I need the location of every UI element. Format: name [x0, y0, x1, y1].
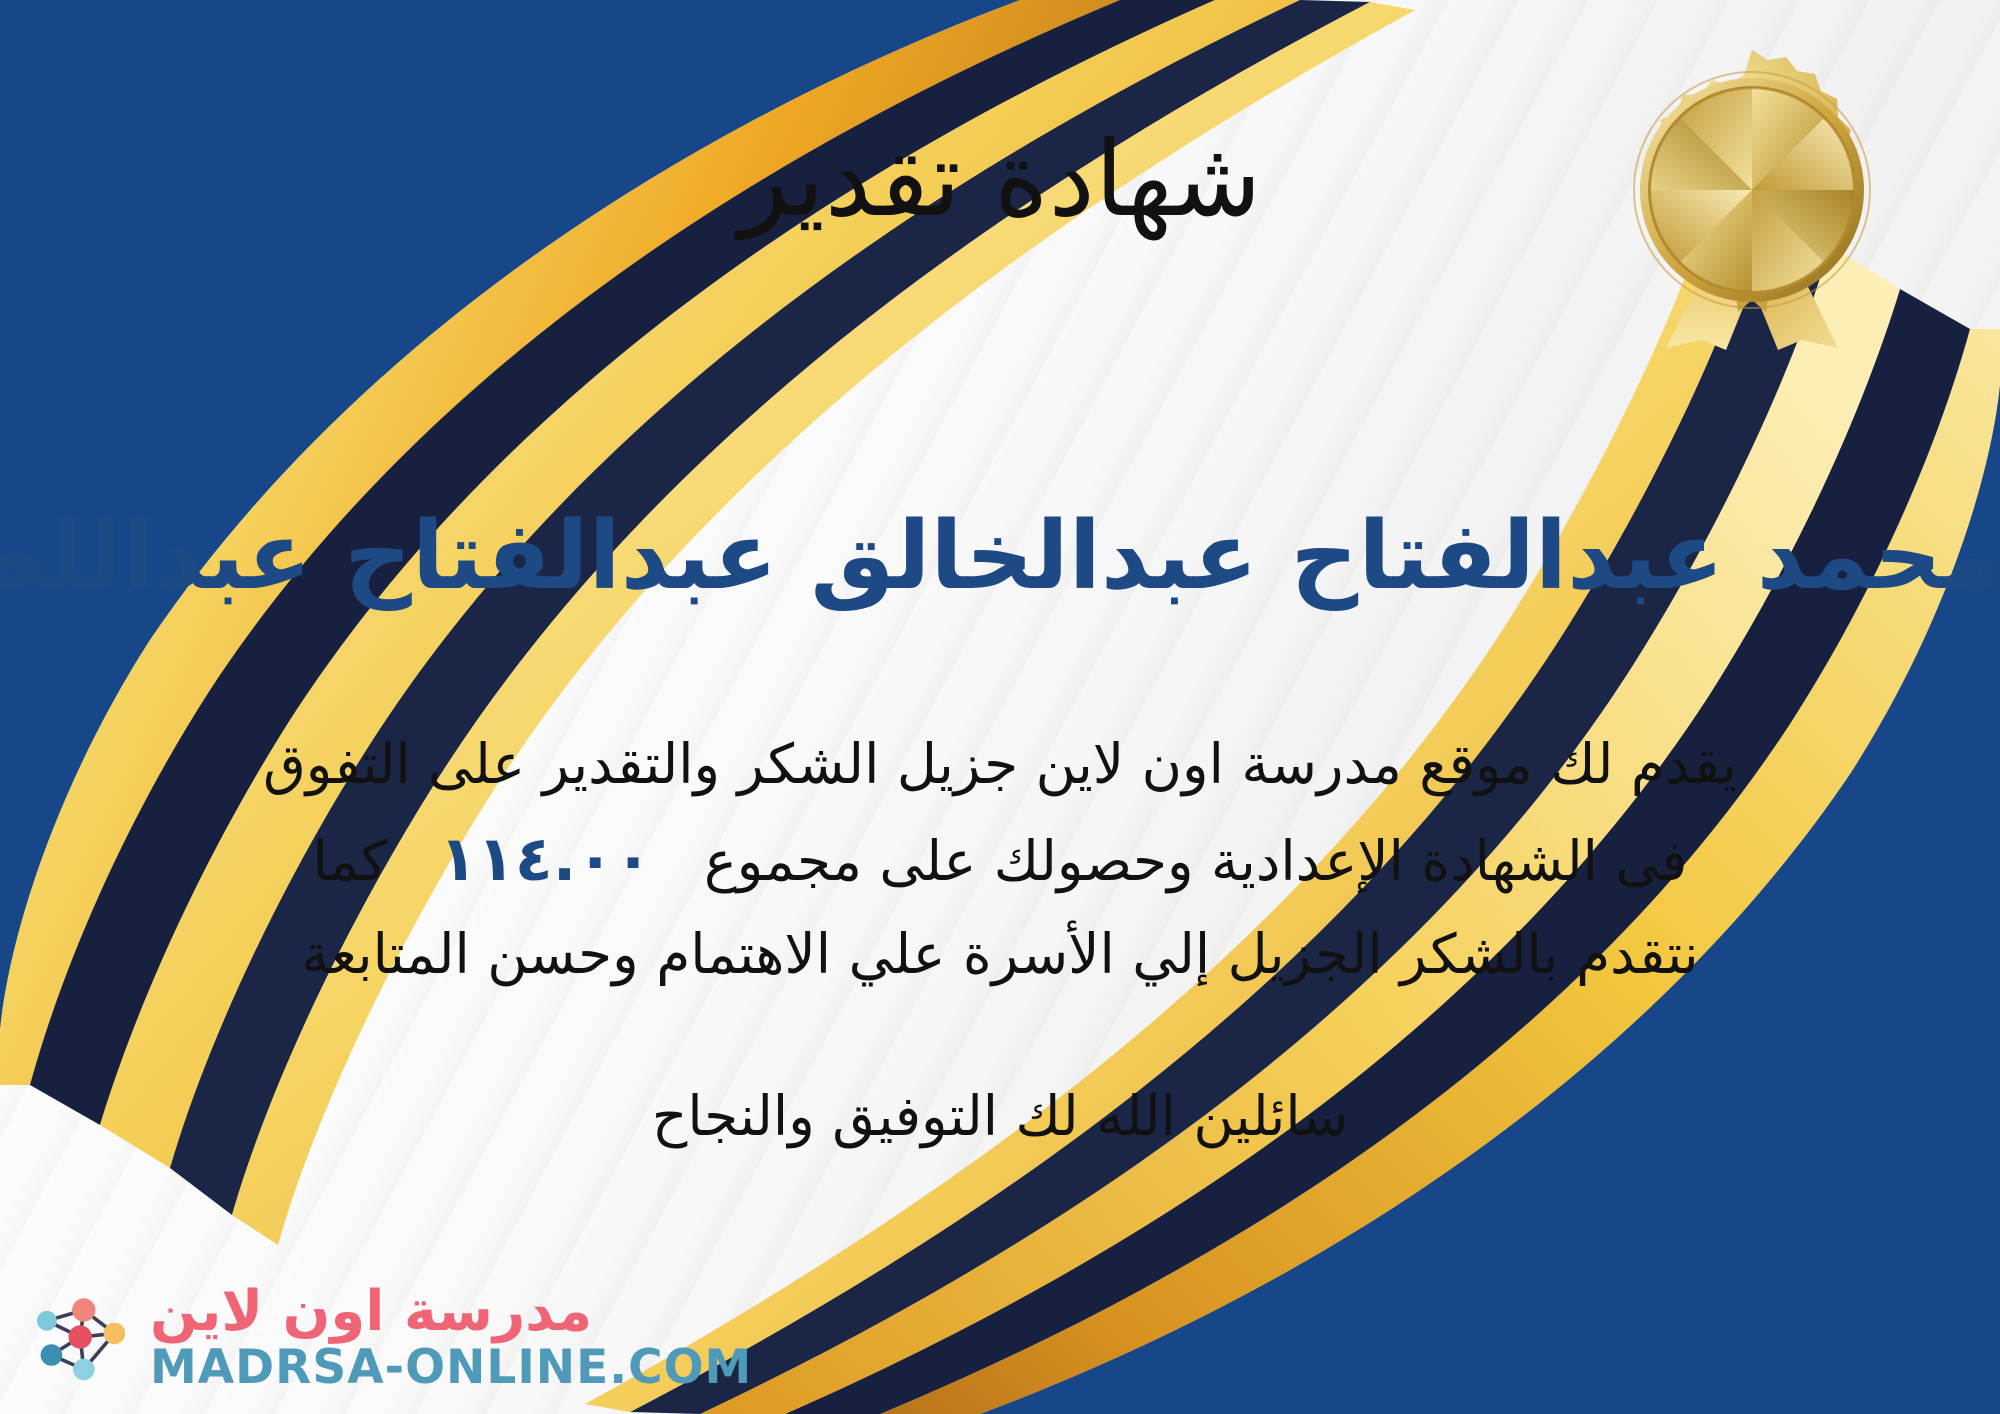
certificate-title: شهادة تقدير [0, 120, 2000, 240]
network-nodes-icon [28, 1283, 136, 1391]
body-line-2-suffix: كما [312, 829, 387, 893]
body-line-1: يقدم لك موقع مدرسة اون لاين جزيل الشكر و… [60, 720, 1940, 809]
body-line-3: نتقدم بالشكر الجزيل إلي الأسرة علي الاهت… [60, 910, 1940, 999]
certificate-body: يقدم لك موقع مدرسة اون لاين جزيل الشكر و… [60, 720, 1940, 999]
closing-wish-line: سائلين الله لك التوفيق والنجاح [0, 1075, 2000, 1158]
body-line-2-prefix: فى الشهادة الإعدادية وحصولك على مجموع [704, 829, 1688, 893]
brand-text-block: مدرسة اون لاين MADRSA-ONLINE.COM [150, 1283, 752, 1392]
brand-arabic-name: مدرسة اون لاين [150, 1283, 592, 1340]
brand-website-url[interactable]: MADRSA-ONLINE.COM [150, 1344, 752, 1392]
recipient-name: محمد عبدالفتاح عبدالخالق عبدالفتاح عبدال… [0, 498, 2000, 616]
certificate-page: شهادة تقدير محمد عبدالفتاح عبدالخالق عبد… [0, 0, 2000, 1414]
brand-logo[interactable]: مدرسة اون لاين MADRSA-ONLINE.COM [28, 1283, 752, 1392]
grade-total-value: ١١٤.٠٠ [387, 822, 704, 895]
body-line-2: فى الشهادة الإعدادية وحصولك على مجموع١١٤… [60, 809, 1940, 909]
